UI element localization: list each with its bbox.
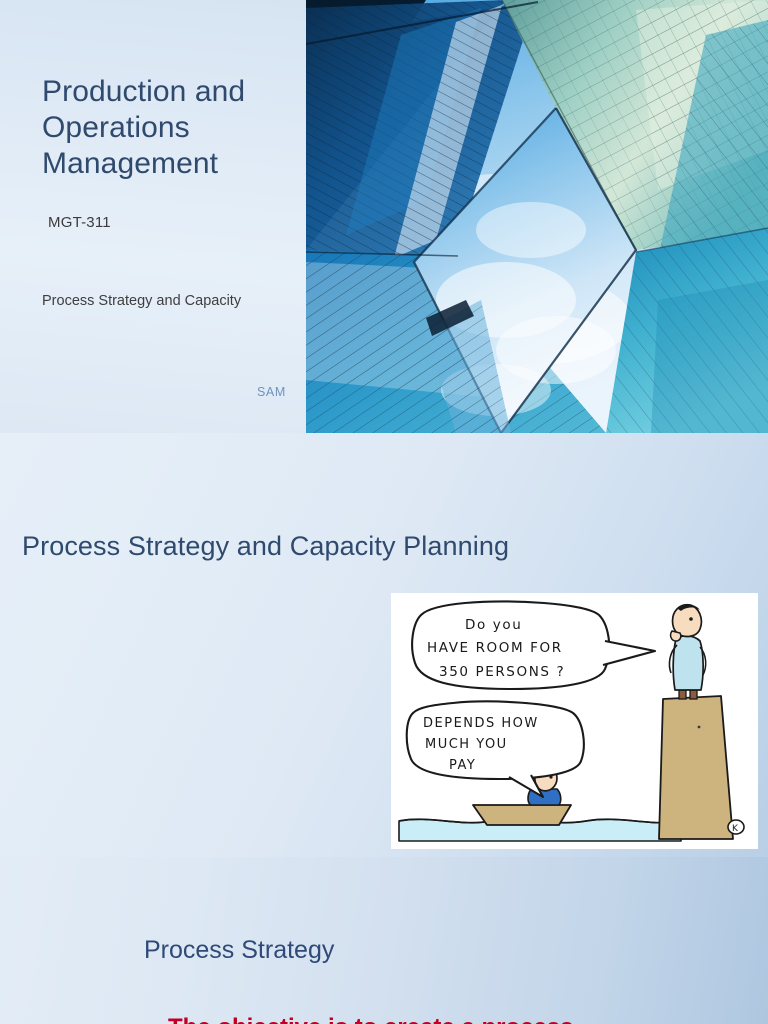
course-code: MGT-311 — [48, 214, 111, 231]
slide-1-title-slide: Production and Operations Management MGT… — [0, 0, 768, 433]
slide-2-section-header: Process Strategy and Capacity Planning — [0, 433, 768, 857]
presentation-title: Production and Operations Management — [42, 74, 297, 182]
slide-3-process-strategy: Process Strategy The objective is to cre… — [0, 857, 768, 1024]
slide-3-title: Process Strategy — [144, 936, 334, 965]
svg-text:HAVE ROOM FOR: HAVE ROOM FOR — [427, 640, 563, 656]
slide-deck: Production and Operations Management MGT… — [0, 0, 768, 1024]
svg-text:350 PERSONS ?: 350 PERSONS ? — [439, 664, 565, 680]
svg-text:DEPENDS HOW: DEPENDS HOW — [423, 716, 539, 731]
svg-text:PAY: PAY — [449, 758, 476, 773]
author-name: SAM — [257, 385, 286, 399]
slide-1-left-panel — [0, 0, 306, 433]
presentation-subtitle: Process Strategy and Capacity — [42, 291, 272, 312]
slide-2-title: Process Strategy and Capacity Planning — [22, 531, 509, 562]
capacity-cartoon: Do you HAVE ROOM FOR 350 PERSONS ? DEPEN… — [391, 593, 758, 849]
slide-3-body-text: The objective is to create a process — [168, 1012, 648, 1024]
svg-text:MUCH YOU: MUCH YOU — [425, 737, 508, 752]
glass-building-photo — [306, 0, 768, 433]
svg-text:Do you: Do you — [465, 617, 522, 633]
